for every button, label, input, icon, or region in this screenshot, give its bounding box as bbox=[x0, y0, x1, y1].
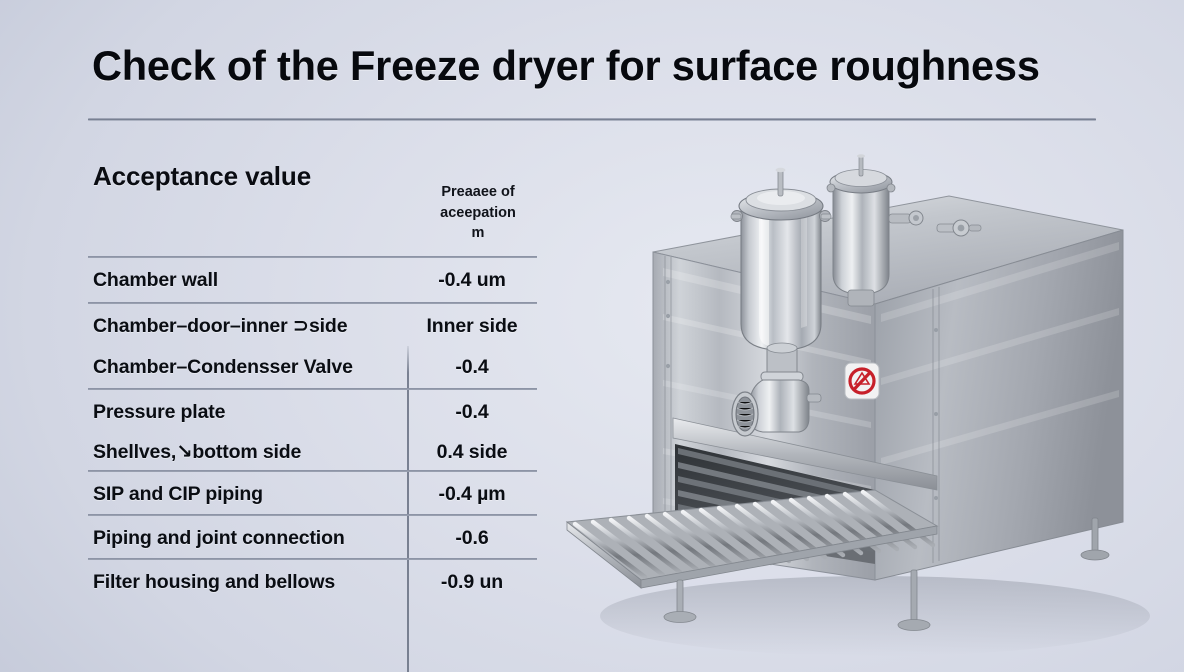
row-value: 0.4 side bbox=[407, 441, 537, 464]
value-column-header-line3: m bbox=[408, 223, 548, 244]
row-value: -0.4 µm bbox=[407, 483, 537, 506]
table-row: SIP and CIP piping -0.4 µm bbox=[88, 472, 537, 516]
table-row: Pressure plate -0.4 bbox=[88, 390, 537, 434]
row-label: Chamber–door–inner ⊃side bbox=[88, 314, 407, 338]
row-label: Chamber–Condensser Valve bbox=[88, 356, 407, 379]
section-heading: Acceptance value bbox=[93, 161, 311, 192]
value-column-header-line1: Preaaee of bbox=[408, 182, 548, 203]
table-row: Filter housing and bellows -0.9 un bbox=[88, 560, 537, 604]
table-row: Piping and joint connection -0.6 bbox=[88, 516, 537, 560]
row-label: Chamber wall bbox=[88, 269, 407, 292]
row-value: -0.4 bbox=[407, 356, 537, 379]
row-value: -0.4 um bbox=[407, 269, 537, 292]
slide-root: Check of the Freeze dryer for surface ro… bbox=[0, 0, 1184, 672]
row-value: -0.4 bbox=[407, 401, 537, 424]
row-value: -0.9 un bbox=[407, 571, 537, 594]
value-column-header: Preaaee of aceepation m bbox=[408, 182, 548, 244]
row-label: Pressure plate bbox=[88, 401, 407, 424]
freeze-dryer-machine bbox=[545, 118, 1165, 663]
row-label: SIP and CIP piping bbox=[88, 483, 407, 506]
row-label: Shellves,↘bottom side bbox=[88, 440, 407, 464]
table-row: Shellves,↘bottom side 0.4 side bbox=[88, 430, 537, 474]
table-row: Chamber–door–inner ⊃side Inner side bbox=[88, 304, 537, 348]
filter-housing-vessel-left bbox=[731, 168, 831, 350]
page-title: Check of the Freeze dryer for surface ro… bbox=[92, 43, 1102, 89]
row-label: Piping and joint connection bbox=[88, 527, 407, 550]
freeze-dryer-illustration bbox=[545, 118, 1165, 663]
value-column-header-line2: aceepation bbox=[408, 203, 548, 224]
warning-label bbox=[845, 363, 879, 399]
row-value: Inner side bbox=[407, 315, 537, 338]
table-row: Chamber wall -0.4 um bbox=[88, 258, 537, 302]
row-label: Filter housing and bellows bbox=[88, 571, 407, 594]
table-row: Chamber–Condensser Valve -0.4 bbox=[88, 345, 537, 389]
row-value: -0.6 bbox=[407, 527, 537, 550]
